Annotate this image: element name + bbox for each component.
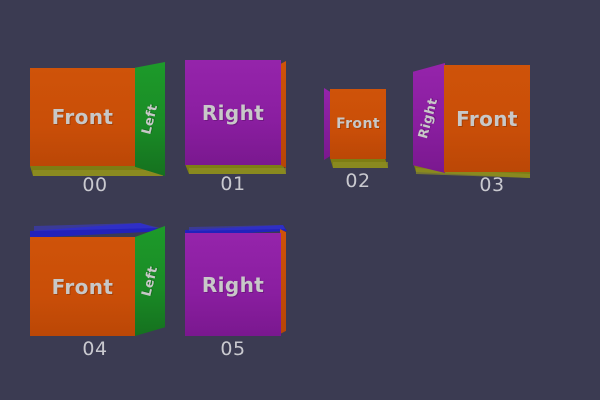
cube-index-02: 02 [338,172,378,191]
cube-05-right-label: Right [202,275,264,295]
cube-cell-01[interactable]: Right 01 [180,0,310,200]
cube-00-front-face: Front [30,68,135,166]
cube-cell-05[interactable]: Right 05 [180,200,310,400]
cube-00-front-label: Front [52,107,114,127]
cube-cell-03[interactable]: Right Front 03 [400,0,545,200]
cube-index-05: 05 [213,340,253,359]
cube-cell-00[interactable]: Left Front 00 [0,0,180,200]
cube-02-front-label: Front [336,117,380,131]
cube-index-04: 04 [75,340,115,359]
cube-03-front-face: Front [444,65,530,172]
cube-02-front-face: Front [330,89,386,159]
cube-04-front-label: Front [52,277,114,297]
cube-05-right-face: Right [185,233,281,336]
cube-04-front-face: Front [30,237,135,336]
cube-04-left-label: Left [140,265,160,298]
cube-01-right-face: Right [185,60,281,165]
cube-cell-04[interactable]: Left Front 04 [0,200,180,400]
cube-index-03: 03 [472,176,512,195]
cube-03-right-face: Right [413,63,445,173]
cube-cell-02[interactable]: Front 02 [310,0,410,200]
cube-03-front-label: Front [456,109,518,129]
cube-01-right-label: Right [202,103,264,123]
cube-03-right-label: Right [417,96,440,139]
cube-00-left-label: Left [140,103,160,136]
cube-index-01: 01 [213,175,253,194]
cube-00-left-face: Left [135,62,165,176]
cube-04-left-face: Left [135,226,165,336]
cube-index-00: 00 [75,176,115,195]
cube-grid-stage: Left Front 00 Right 01 Front 02 [0,0,600,400]
